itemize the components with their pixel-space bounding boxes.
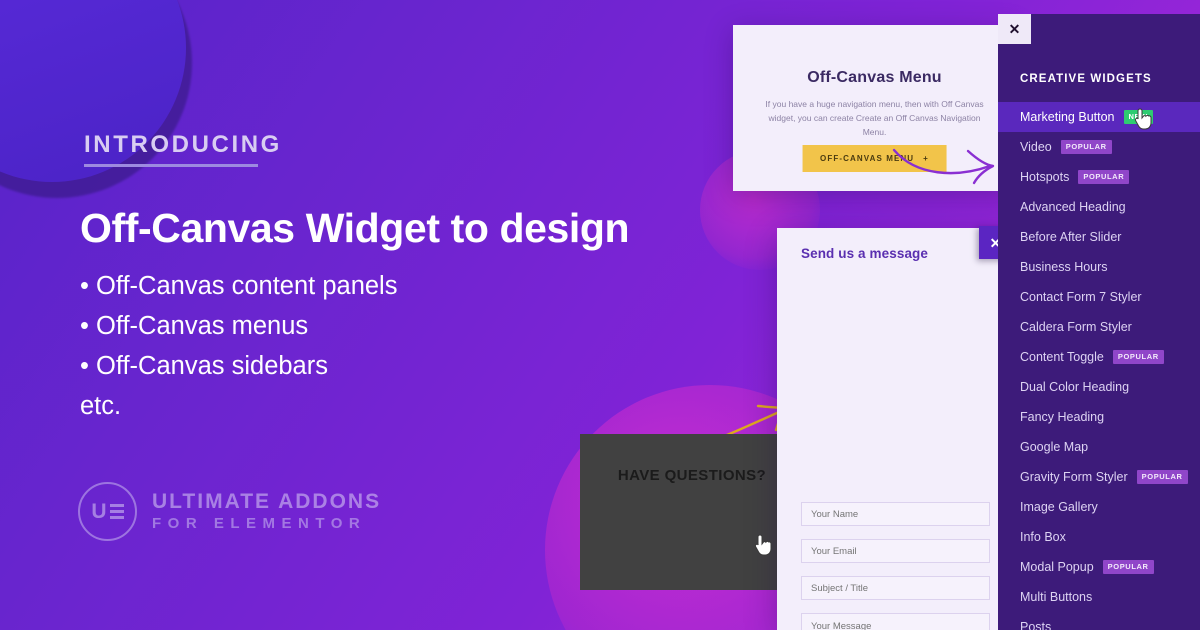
- creative-widgets-panel: CREATIVE WIDGETS Marketing ButtonNEWVide…: [998, 14, 1200, 630]
- sidebar-item-google-map[interactable]: Google Map: [998, 432, 1200, 462]
- sidebar-item-content-toggle[interactable]: Content TogglePOPULAR: [998, 342, 1200, 372]
- sidebar-item-label: Google Map: [1020, 440, 1088, 454]
- sidebar-item-label: Info Box: [1020, 530, 1066, 544]
- sidebar-item-label: Hotspots: [1020, 170, 1069, 184]
- sidebar-item-before-after-slider[interactable]: Before After Slider: [998, 222, 1200, 252]
- sidebar-item-label: Video: [1020, 140, 1052, 154]
- widget-list: Marketing ButtonNEWVideoPOPULARHotspotsP…: [998, 102, 1200, 630]
- status-badge: POPULAR: [1061, 140, 1112, 153]
- ue-monogram-icon: U: [78, 482, 137, 541]
- have-questions-title: HAVE QUESTIONS?: [580, 467, 804, 484]
- sidebar-item-label: Caldera Form Styler: [1020, 320, 1132, 334]
- status-badge: POPULAR: [1078, 170, 1129, 183]
- sidebar-item-label: Contact Form 7 Styler: [1020, 290, 1142, 304]
- sidebar-item-label: Before After Slider: [1020, 230, 1121, 244]
- promo-banner: INTRODUCING Off-Canvas Widget to design …: [0, 0, 1200, 630]
- brand-logo: U ULTIMATE ADDONS FOR ELEMENTOR: [78, 482, 381, 541]
- sidebar-item-fancy-heading[interactable]: Fancy Heading: [998, 402, 1200, 432]
- plus-icon: +: [923, 154, 929, 163]
- subject-field[interactable]: [801, 576, 990, 600]
- sidebar-item-caldera-form-styler[interactable]: Caldera Form Styler: [998, 312, 1200, 342]
- eyebrow-underline: [84, 164, 258, 167]
- status-badge: POPULAR: [1103, 560, 1154, 573]
- sidebar-item-label: Modal Popup: [1020, 560, 1094, 574]
- message-field[interactable]: [801, 613, 990, 630]
- logo-bars-icon: [110, 504, 124, 519]
- logo-letter-u: U: [91, 501, 106, 522]
- brand-name-line1: ULTIMATE ADDONS: [152, 490, 381, 514]
- brand-name: ULTIMATE ADDONS FOR ELEMENTOR: [152, 490, 381, 534]
- off-canvas-menu-button[interactable]: OFF-CANVAS MENU +: [802, 145, 947, 172]
- name-field[interactable]: [801, 502, 990, 526]
- sidebar-item-label: Dual Color Heading: [1020, 380, 1129, 394]
- list-item-etc: etc.: [80, 386, 700, 426]
- menu-card-description: If you have a huge navigation menu, then…: [757, 97, 992, 139]
- sidebar-item-label: Fancy Heading: [1020, 410, 1104, 424]
- menu-card-title: Off-Canvas Menu: [733, 69, 1016, 87]
- sidebar-item-hotspots[interactable]: HotspotsPOPULAR: [998, 162, 1200, 192]
- sidebar-item-gravity-form-styler[interactable]: Gravity Form StylerPOPULAR: [998, 462, 1200, 492]
- hand-cursor-icon: [1134, 108, 1152, 130]
- decorative-circle-shadow: [0, 0, 192, 198]
- off-canvas-menu-button-label: OFF-CANVAS MENU: [820, 154, 914, 163]
- sidebar-item-label: Gravity Form Styler: [1020, 470, 1128, 484]
- list-item: • Off-Canvas sidebars: [80, 346, 700, 386]
- panel-heading: CREATIVE WIDGETS: [1020, 73, 1152, 85]
- sidebar-item-video[interactable]: VideoPOPULAR: [998, 132, 1200, 162]
- have-questions-card: HAVE QUESTIONS? CONTACT US +: [580, 434, 804, 590]
- list-item: • Off-Canvas content panels: [80, 266, 700, 306]
- sidebar-item-posts[interactable]: Posts: [998, 612, 1200, 630]
- sidebar-item-label: Content Toggle: [1020, 350, 1104, 364]
- contact-form-card: Send us a message: [777, 228, 1013, 630]
- sidebar-item-label: Multi Buttons: [1020, 590, 1092, 604]
- sidebar-item-label: Posts: [1020, 620, 1051, 630]
- sidebar-item-info-box[interactable]: Info Box: [998, 522, 1200, 552]
- list-item: • Off-Canvas menus: [80, 306, 700, 346]
- sidebar-item-modal-popup[interactable]: Modal PopupPOPULAR: [998, 552, 1200, 582]
- off-canvas-menu-card: Off-Canvas Menu If you have a huge navig…: [733, 25, 1016, 191]
- sidebar-item-image-gallery[interactable]: Image Gallery: [998, 492, 1200, 522]
- eyebrow-label: INTRODUCING: [84, 131, 282, 159]
- sidebar-item-multi-buttons[interactable]: Multi Buttons: [998, 582, 1200, 612]
- sidebar-item-label: Image Gallery: [1020, 500, 1098, 514]
- brand-name-line2: FOR ELEMENTOR: [152, 514, 381, 534]
- form-title: Send us a message: [801, 246, 928, 261]
- sidebar-item-label: Advanced Heading: [1020, 200, 1126, 214]
- feature-list: • Off-Canvas content panels • Off-Canvas…: [80, 266, 700, 426]
- status-badge: POPULAR: [1113, 350, 1164, 363]
- sidebar-item-dual-color-heading[interactable]: Dual Color Heading: [998, 372, 1200, 402]
- sidebar-item-advanced-heading[interactable]: Advanced Heading: [998, 192, 1200, 222]
- status-badge: POPULAR: [1137, 470, 1188, 483]
- page-title: Off-Canvas Widget to design: [80, 205, 740, 252]
- email-field[interactable]: [801, 539, 990, 563]
- close-icon[interactable]: ✕: [998, 14, 1031, 44]
- sidebar-item-label: Marketing Button: [1020, 110, 1115, 124]
- sidebar-item-business-hours[interactable]: Business Hours: [998, 252, 1200, 282]
- sidebar-item-label: Business Hours: [1020, 260, 1108, 274]
- sidebar-item-contact-form-7-styler[interactable]: Contact Form 7 Styler: [998, 282, 1200, 312]
- hand-cursor-icon: [754, 534, 772, 556]
- sidebar-item-marketing-button[interactable]: Marketing ButtonNEW: [998, 102, 1200, 132]
